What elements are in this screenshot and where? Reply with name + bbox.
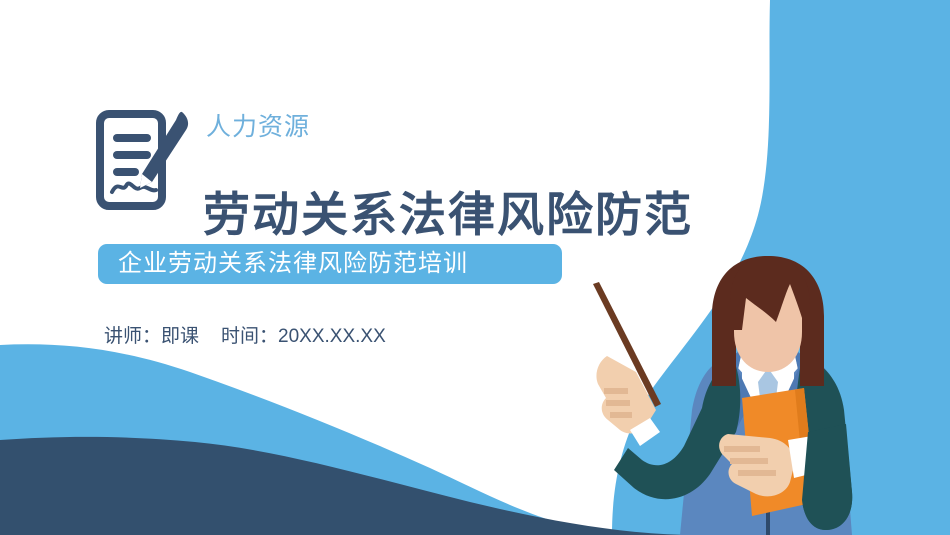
presenter-illustration: [0, 0, 950, 535]
presentation-slide: 人力资源 劳动关系法律风险防范 企业劳动关系法律风险防范培训 讲师：即课时间：2…: [0, 0, 950, 535]
jacket-seam: [766, 430, 770, 535]
